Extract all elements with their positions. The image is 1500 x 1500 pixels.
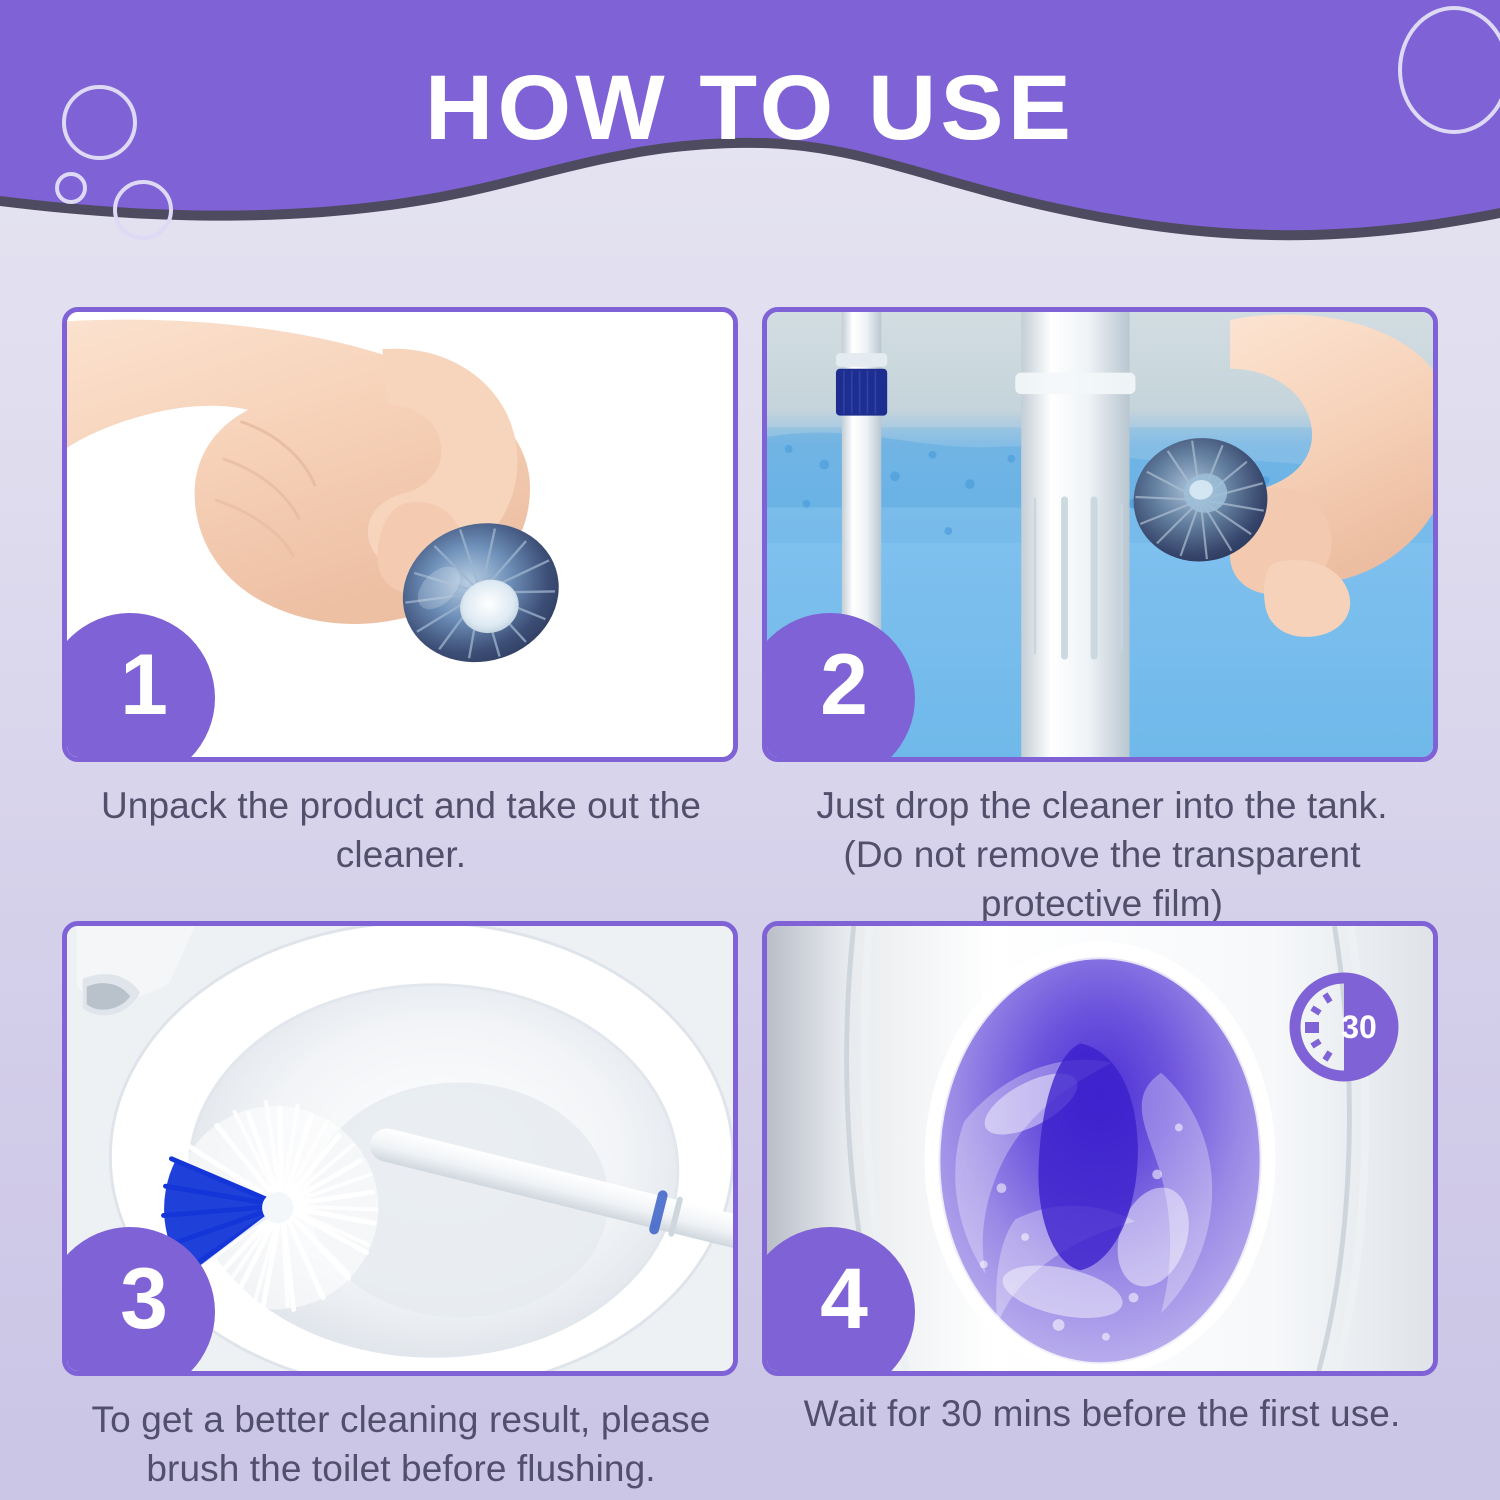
step-1-caption: Unpack the product and take out the clea… [70, 782, 732, 880]
step-2: 2 [762, 307, 1438, 762]
step-2-panel[interactable]: 2 [762, 307, 1438, 762]
bubble-small-left [55, 172, 87, 204]
timer-value: 30 [1341, 1009, 1377, 1045]
step-1-panel[interactable]: 1 [62, 307, 738, 762]
step-3-panel[interactable]: 3 [62, 921, 738, 1376]
step-3-caption: To get a better cleaning result, please … [70, 1396, 732, 1494]
step-2-number: 2 [820, 642, 868, 728]
step-4-number: 4 [820, 1256, 868, 1342]
how-to-use-infographic: HOW TO USE [0, 0, 1500, 1500]
page-title: HOW TO USE [0, 62, 1500, 154]
step-4-caption: Wait for 30 mins before the first use. [782, 1390, 1422, 1439]
step-2-caption: Just drop the cleaner into the tank. (Do… [782, 782, 1422, 928]
step-4: 30 4 [762, 921, 1438, 1376]
timer-30-min-badge: 30 [1285, 968, 1403, 1086]
step-3-number: 3 [120, 1256, 168, 1342]
step-1-number: 1 [120, 642, 168, 728]
step-1: 1 [62, 307, 738, 762]
bubble-medium-left [113, 180, 173, 240]
steps-grid: 1 Unpack the product and take out the cl… [0, 0, 1500, 1500]
step-4-panel[interactable]: 30 4 [762, 921, 1438, 1376]
stopwatch-icon: 30 [1285, 968, 1403, 1086]
step-3: 3 [62, 921, 738, 1376]
